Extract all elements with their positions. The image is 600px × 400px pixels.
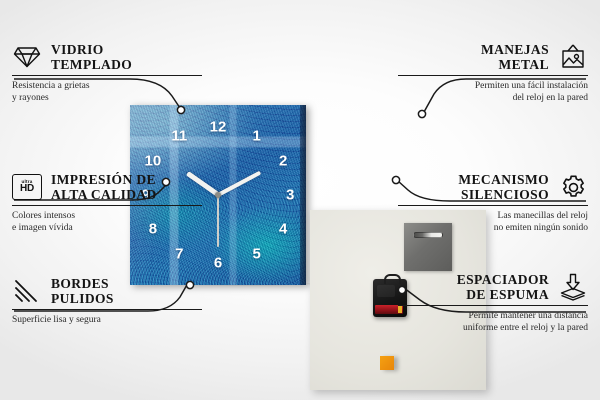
callout-head: MECANISMO SILENCIOSO bbox=[398, 172, 588, 202]
callout-divider bbox=[398, 205, 588, 206]
hanging-frame-icon bbox=[558, 42, 588, 72]
callout-title-line1: MANEJAS bbox=[481, 42, 549, 57]
diagonal-lines-icon bbox=[12, 276, 42, 306]
callout-divider bbox=[12, 309, 202, 310]
callout-title: ESPACIADOR DE ESPUMA bbox=[457, 272, 549, 302]
callout-foam-spacer: ESPACIADOR DE ESPUMA Permite mantener un… bbox=[398, 272, 588, 335]
callout-divider bbox=[398, 305, 588, 306]
callout-subtitle-line2: uniforme entre el reloj y la pared bbox=[463, 323, 588, 333]
callout-title-line2: SILENCIOSO bbox=[461, 187, 549, 202]
ultra-hd-badge-big-text: HD bbox=[20, 184, 34, 194]
callout-subtitle: Superficie lisa y segura bbox=[12, 314, 202, 326]
callout-subtitle-line2: y rayones bbox=[12, 93, 49, 103]
callout-subtitle-line1: Las manecillas del reloj bbox=[498, 211, 588, 221]
callout-subtitle-line1: Resistencia a grietas bbox=[12, 81, 90, 91]
callout-subtitle-line1: Superficie lisa y segura bbox=[12, 315, 101, 325]
callout-subtitle-line1: Colores intensos bbox=[12, 211, 75, 221]
callout-hd-print: ultra HD IMPRESIÓN DE ALTA CALIDAD Color… bbox=[12, 172, 202, 235]
callout-title-line1: IMPRESIÓN DE bbox=[51, 172, 156, 187]
callout-title: BORDES PULIDOS bbox=[51, 276, 114, 306]
callout-title-line1: ESPACIADOR bbox=[457, 272, 549, 287]
callout-head: ultra HD IMPRESIÓN DE ALTA CALIDAD bbox=[12, 172, 202, 202]
clock-polished-edge bbox=[300, 105, 306, 285]
callout-head: BORDES PULIDOS bbox=[12, 276, 202, 306]
callout-title: MANEJAS METAL bbox=[481, 42, 549, 72]
callout-title-line2: DE ESPUMA bbox=[466, 287, 549, 302]
callout-title-line2: TEMPLADO bbox=[51, 57, 132, 72]
callout-subtitle-line2: no emiten ningún sonido bbox=[494, 223, 588, 233]
callout-metal-handles: MANEJAS METAL Permiten una fácil instala… bbox=[398, 42, 588, 105]
callout-title-line2: METAL bbox=[498, 57, 549, 72]
callout-divider bbox=[398, 75, 588, 76]
callout-subtitle: Permiten una fácil instalación del reloj… bbox=[398, 80, 588, 104]
callout-divider bbox=[12, 75, 202, 76]
infographic-canvas: 12 1 2 3 4 5 6 7 8 9 10 11 bbox=[0, 0, 600, 400]
callout-head: MANEJAS METAL bbox=[398, 42, 588, 72]
clock-center-hub bbox=[215, 192, 221, 198]
callout-subtitle: Resistencia a grietas y rayones bbox=[12, 80, 202, 104]
callout-tempered-glass: VIDRIO TEMPLADO Resistencia a grietas y … bbox=[12, 42, 202, 105]
callout-subtitle: Colores intensos e imagen vívida bbox=[12, 210, 202, 234]
callout-polished-edges: BORDES PULIDOS Superficie lisa y segura bbox=[12, 276, 202, 326]
callout-subtitle: Permite mantener una distancia uniforme … bbox=[398, 310, 588, 334]
callout-subtitle-line1: Permite mantener una distancia bbox=[469, 311, 589, 321]
callout-title-line1: BORDES bbox=[51, 276, 109, 291]
foam-spacer-pad bbox=[380, 356, 394, 370]
mechanism-detail bbox=[377, 285, 395, 297]
callout-subtitle: Las manecillas del reloj no emiten ningú… bbox=[398, 210, 588, 234]
callout-title-line1: MECANISMO bbox=[458, 172, 549, 187]
callout-title: IMPRESIÓN DE ALTA CALIDAD bbox=[51, 172, 157, 202]
clock-second-hand bbox=[217, 195, 219, 247]
callout-subtitle-line2: e imagen vívida bbox=[12, 223, 73, 233]
callout-divider bbox=[12, 205, 202, 206]
diamond-icon bbox=[12, 42, 42, 72]
callout-title-line2: ALTA CALIDAD bbox=[51, 187, 157, 202]
callout-head: VIDRIO TEMPLADO bbox=[12, 42, 202, 72]
callout-head: ESPACIADOR DE ESPUMA bbox=[398, 272, 588, 302]
ultra-hd-badge: ultra HD bbox=[12, 174, 42, 200]
ultra-hd-icon: ultra HD bbox=[12, 172, 42, 202]
callout-subtitle-line1: Permiten una fácil instalación bbox=[475, 81, 588, 91]
callout-title: MECANISMO SILENCIOSO bbox=[458, 172, 549, 202]
callout-title: VIDRIO TEMPLADO bbox=[51, 42, 132, 72]
callout-silent-mechanism: MECANISMO SILENCIOSO Las manecillas del … bbox=[398, 172, 588, 235]
arrow-onto-pad-icon bbox=[558, 272, 588, 302]
callout-title-line1: VIDRIO bbox=[51, 42, 104, 57]
callout-title-line2: PULIDOS bbox=[51, 291, 114, 306]
callout-subtitle-line2: del reloj en la pared bbox=[513, 93, 588, 103]
gear-icon bbox=[558, 172, 588, 202]
